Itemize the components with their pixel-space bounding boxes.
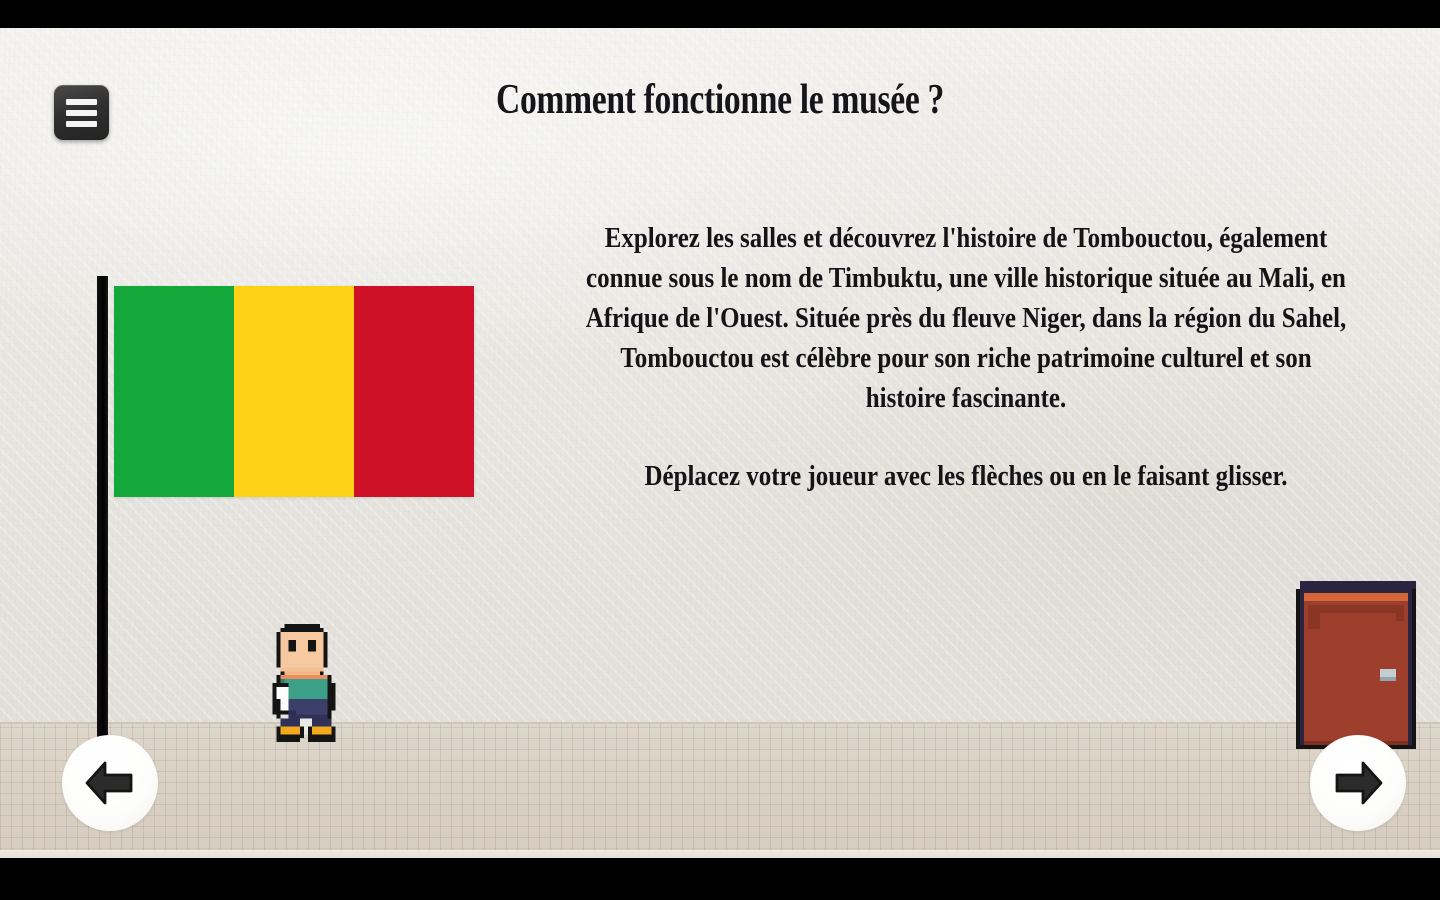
- hamburger-menu-icon-bar-1: [66, 99, 97, 105]
- instructions-paragraph-1: Explorez les salles et découvrez l'histo…: [582, 218, 1349, 418]
- instructions-paragraph-2: Déplacez votre joueur avec les flèches o…: [582, 456, 1349, 496]
- arrow-left-icon: [83, 757, 137, 809]
- exit-door[interactable]: [1292, 580, 1420, 750]
- flag-pole: [97, 276, 108, 752]
- page-title: Comment fonctionne le musée ?: [144, 76, 1296, 124]
- game-screen: Comment fonctionne le musée ? Explorez l…: [0, 0, 1440, 900]
- letterbox-bottom-bar: [0, 858, 1440, 900]
- arrow-right-icon: [1331, 757, 1385, 809]
- flag-stripe-green: [114, 286, 234, 497]
- flag-stripe-yellow: [234, 286, 354, 497]
- hamburger-menu-icon-bar-3: [66, 121, 97, 127]
- flag-stripe-red: [354, 286, 474, 497]
- flag-banner: [114, 286, 474, 497]
- letterbox-top-bar: [0, 0, 1440, 28]
- hamburger-menu-icon-bar-2: [66, 110, 97, 116]
- instructions-text: Explorez les salles et découvrez l'histo…: [582, 218, 1349, 496]
- floor-baseline: [0, 850, 1440, 858]
- player-character[interactable]: [264, 624, 344, 750]
- next-button[interactable]: [1310, 735, 1406, 831]
- menu-button[interactable]: [54, 85, 109, 140]
- previous-button[interactable]: [62, 735, 158, 831]
